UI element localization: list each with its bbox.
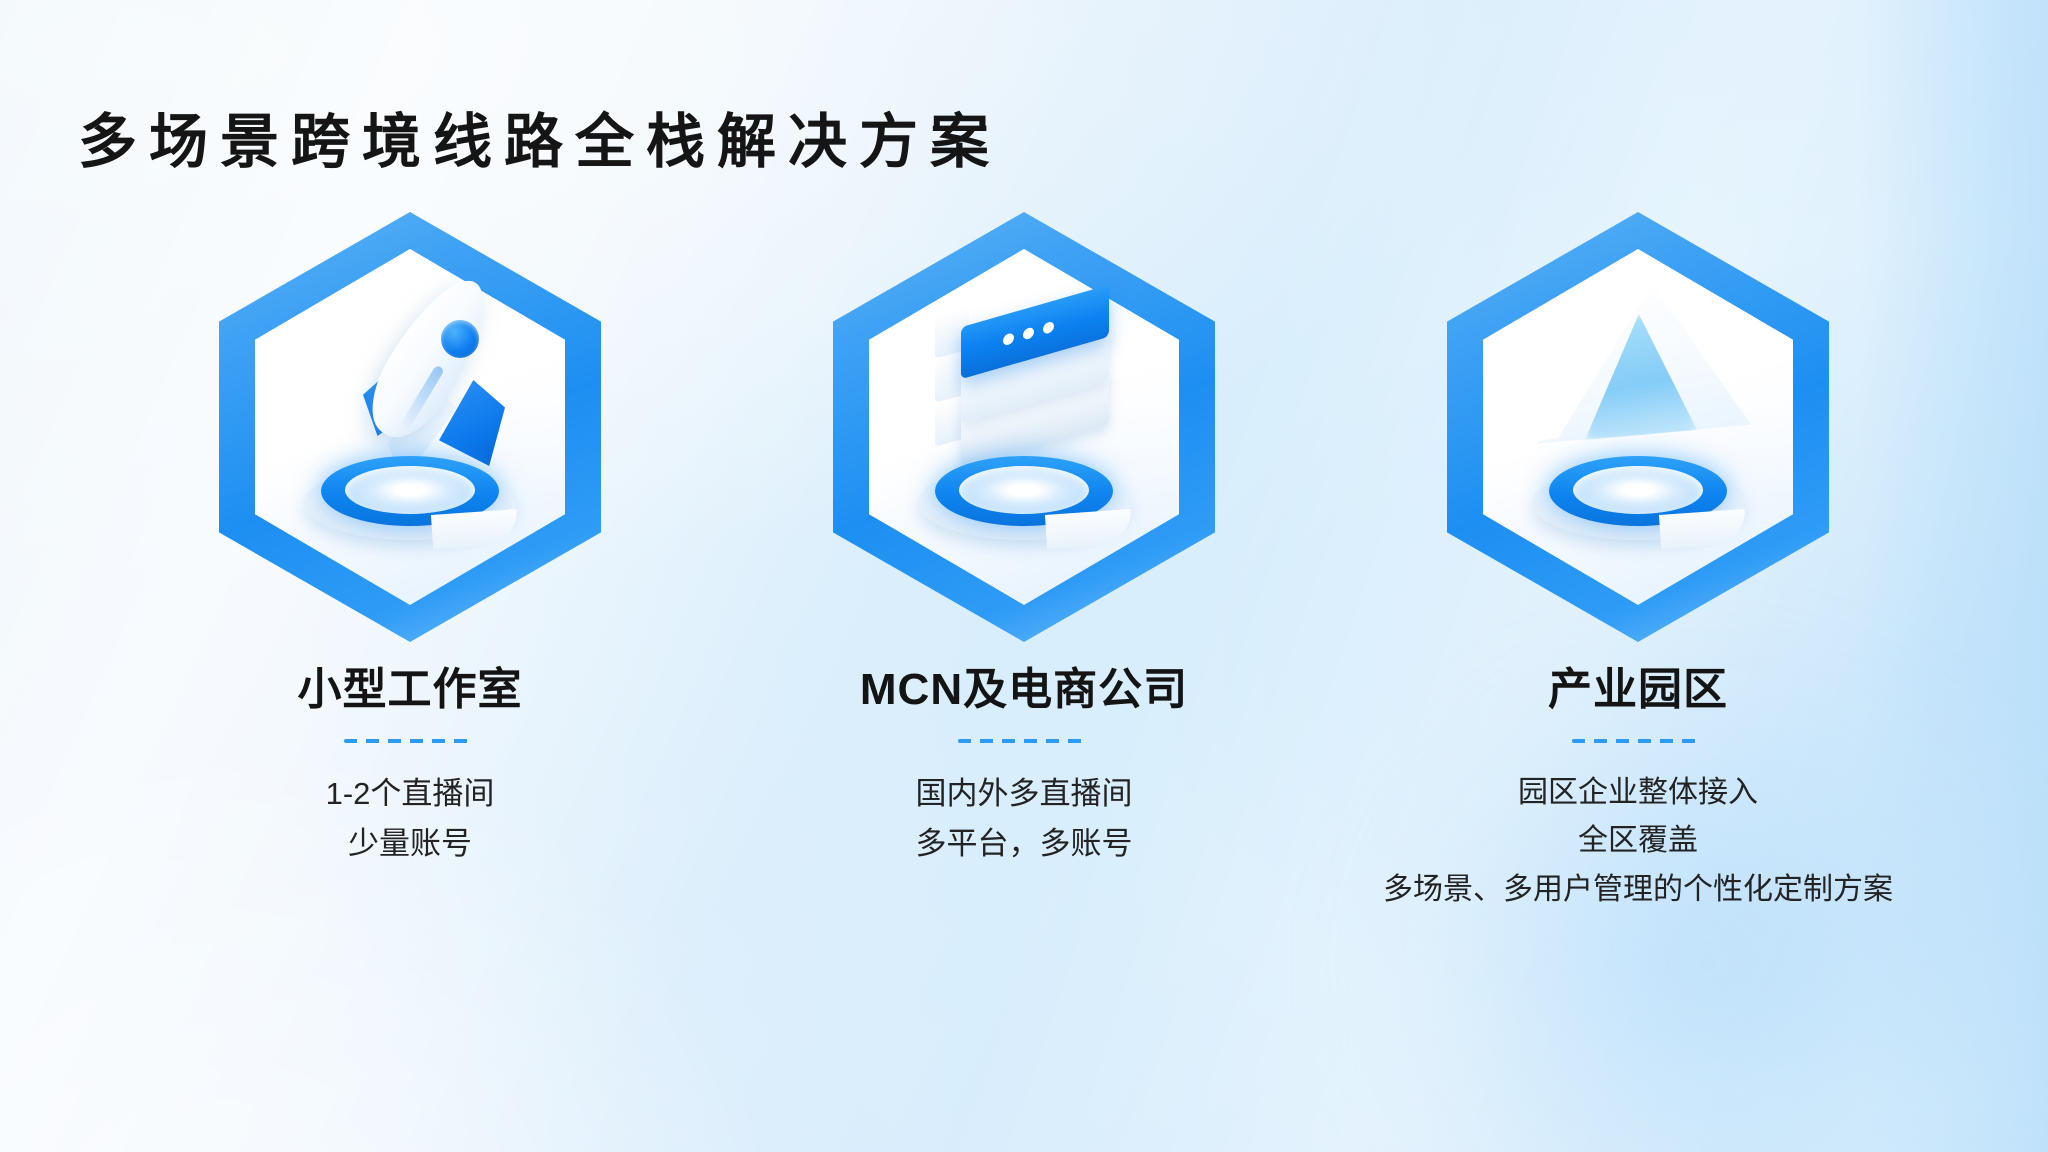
- card-description-line: 国内外多直播间: [916, 769, 1133, 819]
- rocket-window: [441, 320, 479, 358]
- card-title: MCN及电商公司: [860, 664, 1188, 717]
- pedestal-notch: [1045, 509, 1133, 549]
- card-description-line: 少量账号: [326, 819, 495, 869]
- slide-canvas: 多场景跨境线路全栈解决方案: [0, 0, 2048, 1152]
- icon-pedestal: [304, 452, 516, 544]
- page-title: 多场景跨境线路全栈解决方案: [78, 106, 1001, 180]
- glass-pyramid-icon: [1503, 260, 1773, 550]
- pedestal-notch: [431, 509, 519, 549]
- rocket-icon: [275, 260, 545, 550]
- server-stack-glyph: [925, 276, 1135, 476]
- card-title: 产业园区: [1548, 664, 1728, 717]
- card-description-line: 1-2个直播间: [326, 769, 495, 819]
- dashed-divider-icon: [958, 739, 1090, 743]
- pyramid-glyph: [1537, 278, 1749, 478]
- scenario-card-small-studio[interactable]: 小型工作室 1-2个直播间 少量账号: [160, 212, 660, 869]
- card-description: 园区企业整体接入 全区覆盖 多场景、多用户管理的个性化定制方案: [1383, 769, 1893, 915]
- icon-pedestal: [918, 452, 1130, 544]
- hexagon-badge: [833, 212, 1215, 642]
- pedestal-glow: [959, 466, 1089, 514]
- card-description-line: 园区企业整体接入: [1383, 769, 1893, 818]
- card-description: 国内外多直播间 多平台，多账号: [916, 769, 1133, 869]
- card-description-line: 多平台，多账号: [916, 819, 1133, 869]
- dashed-divider-icon: [1572, 739, 1704, 743]
- scenario-card-mcn-ecommerce[interactable]: MCN及电商公司 国内外多直播间 多平台，多账号: [774, 212, 1274, 869]
- pedestal-notch: [1659, 509, 1747, 549]
- scenario-card-list: 小型工作室 1-2个直播间 少量账号: [0, 212, 2048, 915]
- card-description-line: 全区覆盖: [1383, 817, 1893, 866]
- card-description: 1-2个直播间 少量账号: [326, 769, 495, 869]
- icon-pedestal: [1532, 452, 1744, 544]
- server-stack-icon: [889, 260, 1159, 550]
- hexagon-badge: [1447, 212, 1829, 642]
- hexagon-badge: [219, 212, 601, 642]
- card-title: 小型工作室: [298, 664, 523, 717]
- scenario-card-industrial-park[interactable]: 产业园区 园区企业整体接入 全区覆盖 多场景、多用户管理的个性化定制方案: [1388, 212, 1888, 915]
- pedestal-glow: [1573, 466, 1703, 514]
- dashed-divider-icon: [344, 739, 476, 743]
- card-description-line: 多场景、多用户管理的个性化定制方案: [1383, 866, 1893, 915]
- pedestal-glow: [345, 466, 475, 514]
